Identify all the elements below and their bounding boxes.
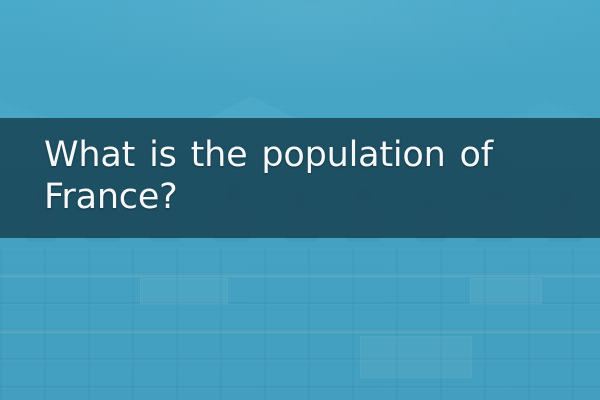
brick-block — [360, 336, 472, 378]
question-card: What is the population of France? — [0, 0, 600, 400]
brick-wall-seam — [0, 274, 600, 277]
canopy-peak-left-icon — [0, 98, 60, 120]
brick-wall-seam — [0, 330, 600, 333]
brick-block — [140, 278, 228, 304]
caption-band: What is the population of France? — [0, 118, 600, 238]
canopy-peak-center-left-icon — [205, 96, 251, 120]
question-text: What is the population of France? — [44, 134, 582, 218]
brick-wall — [0, 248, 600, 400]
photo-sky-region — [0, 0, 600, 120]
canopy-peak-center-right-icon — [251, 96, 299, 120]
brick-block — [470, 278, 542, 304]
